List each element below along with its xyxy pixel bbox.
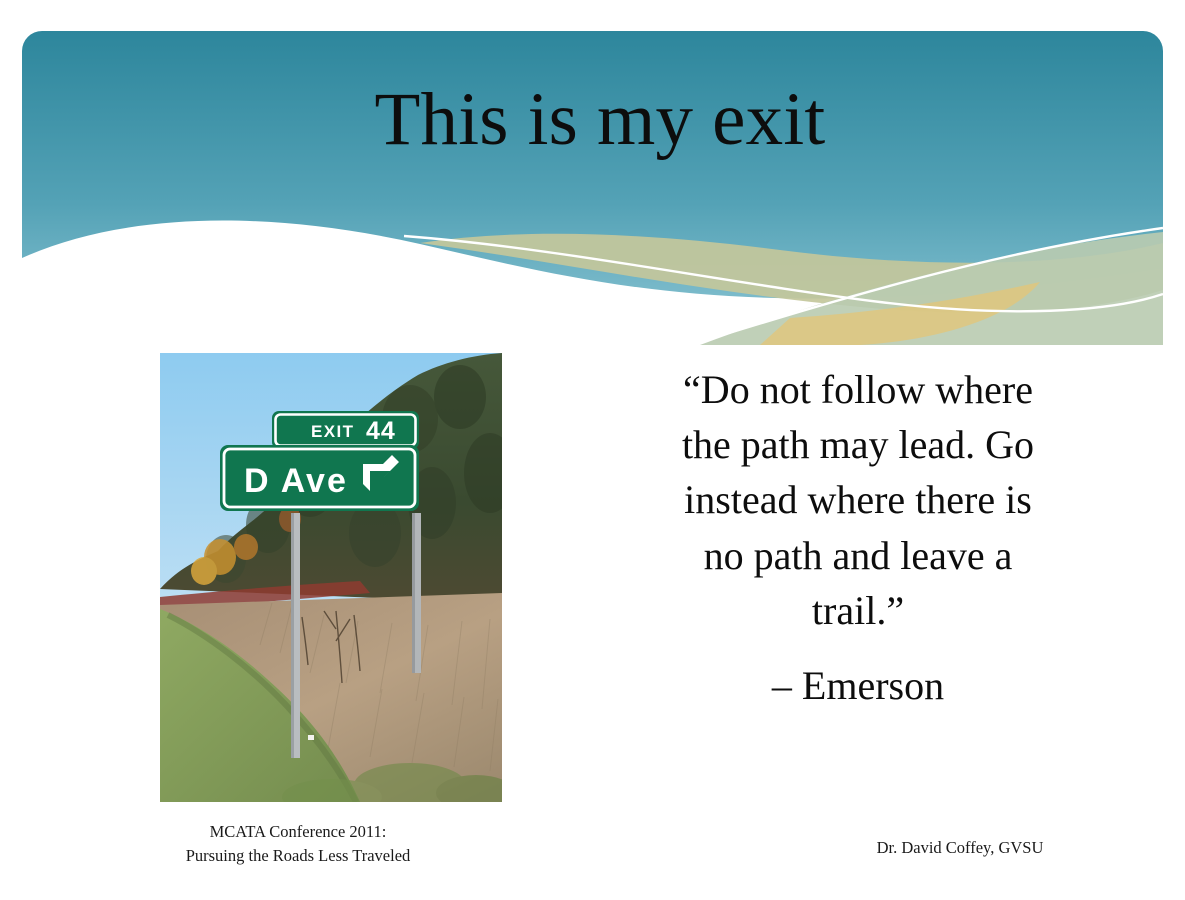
- quote-block: “Do not follow where the path may lead. …: [597, 362, 1119, 712]
- sign-post-right-shadow: [412, 513, 415, 673]
- slide-header-banner: [0, 0, 1185, 345]
- quote-text: “Do not follow where the path may lead. …: [597, 362, 1119, 638]
- quote-line: “Do not follow where: [597, 362, 1119, 417]
- photo-canvas: EXIT 44 D Ave: [160, 353, 502, 802]
- footer-line: Pursuing the Roads Less Traveled: [108, 844, 488, 868]
- exit-tab-label: EXIT: [311, 422, 354, 441]
- sign-post-left-shadow: [291, 513, 294, 758]
- exit-number-label: 44: [366, 417, 396, 445]
- quote-line: the path may lead. Go: [597, 417, 1119, 472]
- header-wave-graphic: [0, 0, 1185, 345]
- quote-line: trail.”: [597, 583, 1119, 638]
- quote-line: no path and leave a: [597, 528, 1119, 583]
- footer-line: MCATA Conference 2011:: [108, 820, 488, 844]
- footer-presenter-info: Dr. David Coffey, GVSU: [740, 836, 1180, 859]
- photo-litter-speck: [308, 735, 314, 740]
- highway-exit-sign-photo: EXIT 44 D Ave: [160, 353, 502, 802]
- quote-line: instead where there is: [597, 472, 1119, 527]
- presentation-slide: This is my exit: [0, 0, 1185, 900]
- quote-attribution: – Emerson: [597, 660, 1119, 712]
- page-title: This is my exit: [120, 82, 1080, 157]
- footer-conference-info: MCATA Conference 2011: Pursuing the Road…: [108, 820, 488, 868]
- street-name-label: D Ave: [244, 462, 348, 500]
- footer-line: Dr. David Coffey, GVSU: [740, 836, 1180, 859]
